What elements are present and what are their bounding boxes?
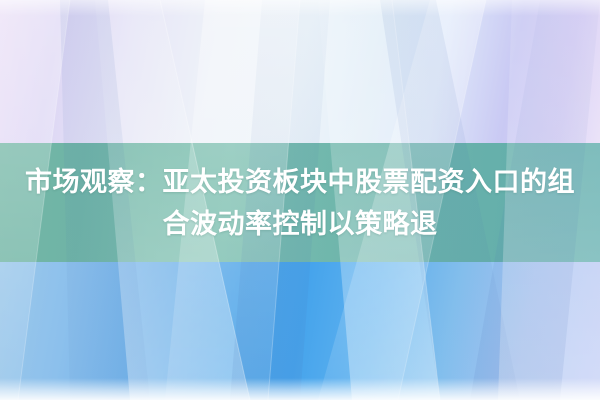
background-band-top: [0, 0, 600, 145]
banner-title: 市场观察：亚太投资板块中股票配资入口的组合波动率控制以策略退: [14, 162, 586, 246]
banner-canvas: 市场观察：亚太投资板块中股票配资入口的组合波动率控制以策略退: [0, 0, 600, 400]
title-container: 市场观察：亚太投资板块中股票配资入口的组合波动率控制以策略退: [0, 143, 600, 264]
background-band-bottom: [0, 262, 600, 400]
